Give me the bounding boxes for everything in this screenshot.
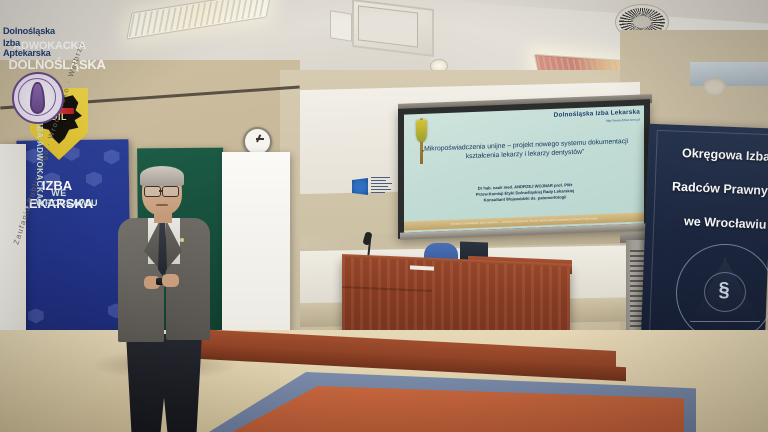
- presenter-trousers: [126, 334, 202, 432]
- paragraph-symbol-icon: §: [716, 276, 732, 304]
- lapel-pin-icon: [180, 238, 184, 242]
- banner-apt-line1: Dolnośląska: [3, 26, 69, 36]
- presenter-mouth: [156, 204, 168, 206]
- clock-hand: [256, 138, 264, 140]
- glasses-bridge: [159, 190, 163, 192]
- banner-green-subtitle: IZBA ADWOKACKA: [35, 118, 44, 178]
- presentation-slide: Dolnośląska Izba Lekarska http://www.dil…: [404, 105, 644, 232]
- banner-izba-aptekarska: [222, 152, 290, 352]
- banner-green-bottom: WE WROCŁAWIU: [36, 188, 82, 208]
- banner-apt-line2: Izba Aptekarska: [3, 38, 69, 58]
- slide-header-url: http://www.dilnet.wroc.pl: [544, 118, 640, 126]
- forum-logo-icon: [352, 178, 368, 195]
- window: [690, 62, 768, 86]
- slide-title: „Mikropoświadczenia unijne – projekt now…: [420, 137, 630, 164]
- slide-crest-icon: [416, 120, 427, 142]
- wall-logo-text-line: [371, 186, 388, 187]
- presenter-hair: [140, 166, 184, 186]
- slide-author-block: Dr hab. nauk med. ANDRZEJ WOJNAR prof. P…: [426, 180, 624, 206]
- wall-speaker-dome: [703, 78, 726, 96]
- ceiling-ac-cassette-inner: [358, 5, 418, 47]
- presenter-person: [112, 168, 216, 432]
- banner-dil-title: DOLNOŚLĄSKA: [2, 57, 112, 72]
- wall-logo-text-line: [371, 180, 386, 181]
- wall-logo-text-line: [371, 192, 385, 193]
- presenter-tie: [158, 220, 167, 276]
- wall-logo-text-line: [371, 189, 391, 190]
- conference-hall-photo: Dolnośląska Izba Lekarska http://www.dil…: [0, 0, 768, 432]
- ceiling-access-hatch: [330, 10, 352, 41]
- bowl-of-hygieia-icon: [30, 82, 45, 114]
- wall-logo-text-line: [371, 183, 392, 184]
- glasses-icon: [162, 186, 179, 197]
- wall-logo-text-line: [371, 177, 390, 178]
- crest-pattern-icon: [101, 147, 123, 169]
- crest-pattern-icon: [25, 306, 47, 328]
- presenter-hand-right: [162, 274, 179, 287]
